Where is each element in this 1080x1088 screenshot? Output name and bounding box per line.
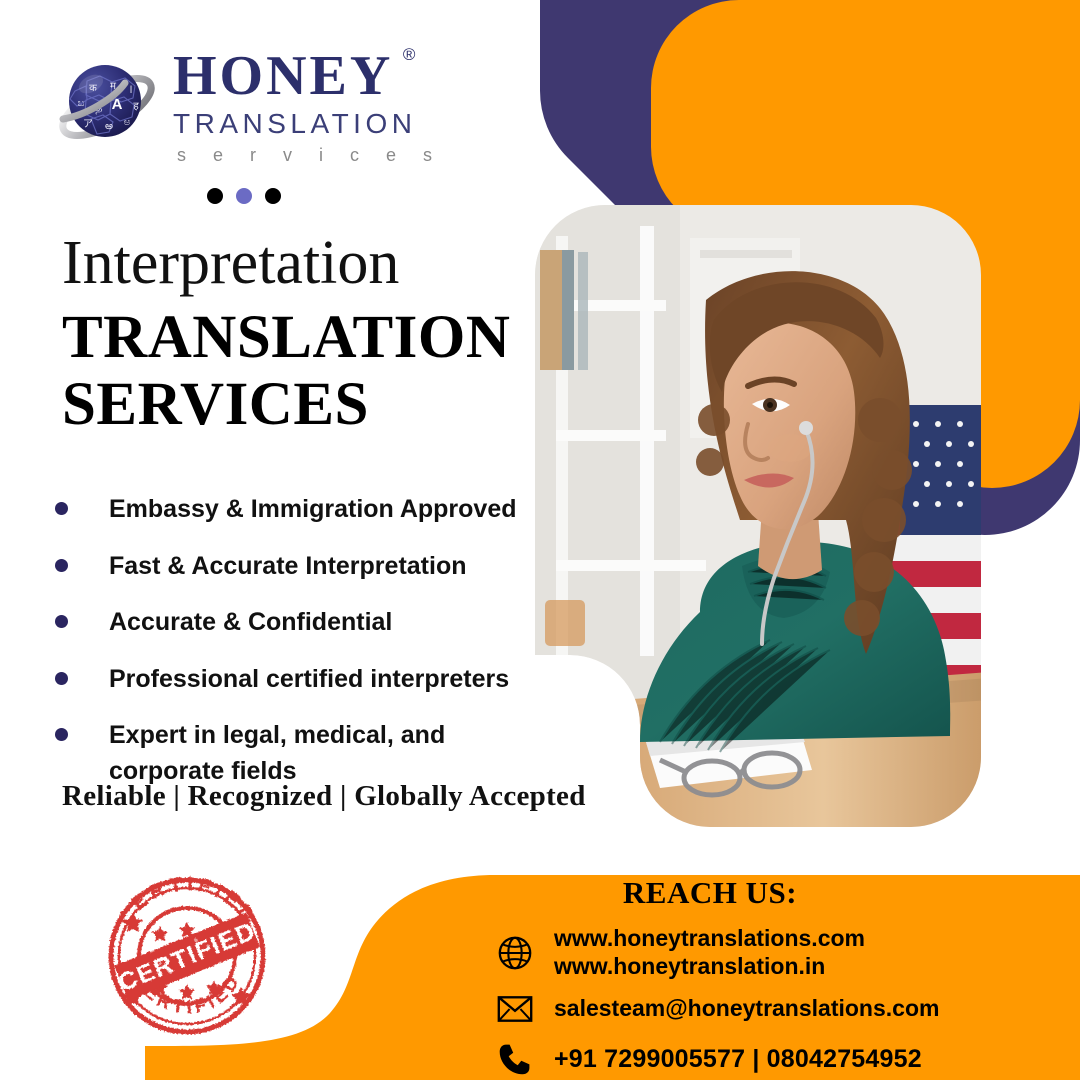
website-line-1[interactable]: www.honeytranslations.com xyxy=(554,925,865,951)
contact-phone[interactable]: +91 7299005577 | 08042754952 xyxy=(554,1044,922,1074)
logo-dot-indicators xyxy=(55,188,475,204)
photo-image xyxy=(530,200,990,840)
bullet-dot-icon xyxy=(55,672,68,685)
logo-dot-2 xyxy=(236,188,252,204)
list-item: Expert in legal, medical, and corporate … xyxy=(55,718,535,789)
contact-row-website: www.honeytranslations.com www.honeytrans… xyxy=(420,925,1080,980)
feature-list: Embassy & Immigration Approved Fast & Ac… xyxy=(55,492,535,810)
svg-text:ア: ア xyxy=(83,119,93,130)
logo-line-services: s e r v i c e s xyxy=(173,145,443,166)
list-item: Embassy & Immigration Approved xyxy=(55,492,535,528)
svg-text:ا: ا xyxy=(130,85,133,96)
contact-email[interactable]: salesteam@honeytranslations.com xyxy=(554,995,939,1023)
list-item: Accurate & Confidential xyxy=(55,605,535,641)
bullet-dot-icon xyxy=(55,615,68,628)
brand-logo: क म ا ಬ த ह ア అ ಅ A xyxy=(55,45,475,204)
poster-canvas: क म ا ಬ த ह ア అ ಅ A xyxy=(0,0,1080,1080)
list-item-label: Fast & Accurate Interpretation xyxy=(109,549,466,585)
list-item-label: Expert in legal, medical, and corporate … xyxy=(109,718,459,789)
bullet-dot-icon xyxy=(55,502,68,515)
list-item: Fast & Accurate Interpretation xyxy=(55,549,535,585)
contact-website-lines[interactable]: www.honeytranslations.com www.honeytrans… xyxy=(554,925,865,980)
logo-dot-3 xyxy=(265,188,281,204)
bullet-dot-icon xyxy=(55,559,68,572)
certified-stamp-icon: CERTIFIED CERTIFIED xyxy=(100,868,275,1043)
envelope-icon xyxy=(492,988,538,1030)
contact-row-phone: +91 7299005577 | 08042754952 xyxy=(420,1038,1080,1080)
list-item-label: Accurate & Confidential xyxy=(109,605,392,641)
contact-title: REACH US: xyxy=(340,875,1080,911)
headline-line-1: TRANSLATION xyxy=(62,304,532,371)
headline-block: Interpretation TRANSLATION SERVICES xyxy=(62,232,532,438)
logo-dot-1 xyxy=(207,188,223,204)
svg-text:ಬ: ಬ xyxy=(78,98,85,109)
contact-block: REACH US: www.honeytranslations.com www.… xyxy=(420,875,1080,1088)
svg-text:ಅ: ಅ xyxy=(124,117,131,128)
list-item: Professional certified interpreters xyxy=(55,662,535,698)
globe-languages-icon: क म ا ಬ த ह ア అ ಅ A xyxy=(55,53,159,157)
logo-line-translation: TRANSLATION xyxy=(173,106,443,141)
registered-trademark-icon: ® xyxy=(403,47,416,64)
bullet-dot-icon xyxy=(55,728,68,741)
svg-text:అ: అ xyxy=(105,121,113,132)
website-line-2[interactable]: www.honeytranslation.in xyxy=(554,953,825,979)
contact-row-email: salesteam@honeytranslations.com xyxy=(420,988,1080,1030)
list-item-label: Professional certified interpreters xyxy=(109,662,509,698)
phone-icon xyxy=(492,1038,538,1080)
tagline: Reliable | Recognized | Globally Accepte… xyxy=(62,780,586,813)
headline-script: Interpretation xyxy=(62,232,532,294)
svg-text:ह: ह xyxy=(133,101,139,112)
logo-brand-text: HONEY xyxy=(173,45,393,107)
logo-brand-name: HONEY ® xyxy=(173,49,393,104)
globe-icon xyxy=(492,932,538,974)
headline-line-2: SERVICES xyxy=(62,371,532,438)
list-item-label: Embassy & Immigration Approved xyxy=(109,492,517,528)
